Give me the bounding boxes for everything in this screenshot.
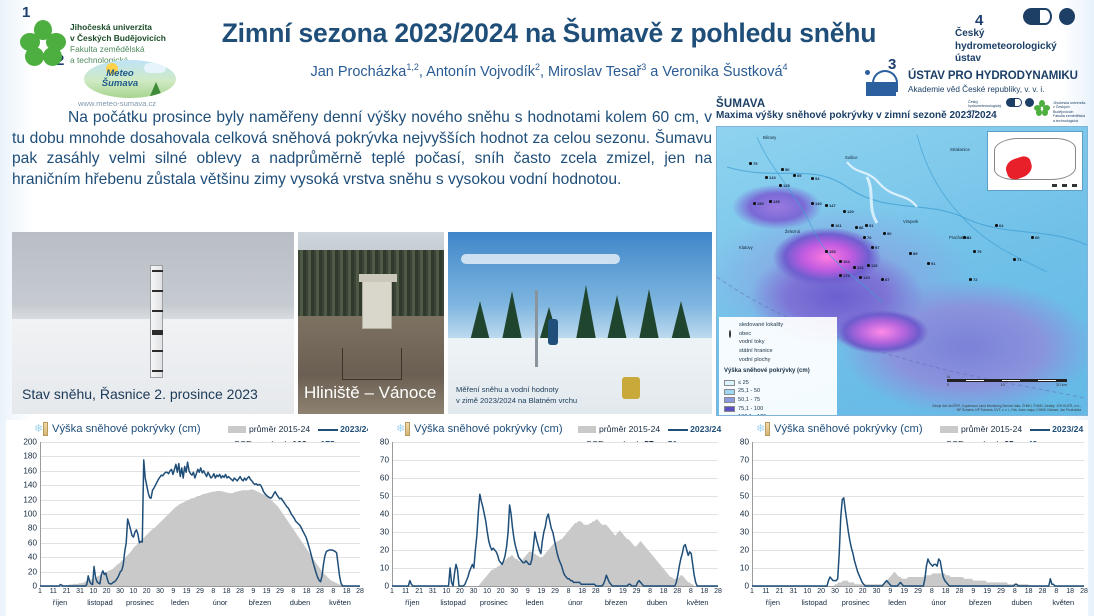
chart-x-tick: 30 [116,588,124,595]
author-3: , Miroslav Tesař [540,64,641,80]
poster-header: 1 2 3 4 Jihočeská univerzita v Českých B… [0,0,1094,105]
legend-average-label: průměr 2015-24 [599,424,660,434]
chart-month-label: duben [290,598,311,607]
chart-plot-area: 0204060801001201401601802001112131102030… [40,442,360,586]
legend-current-label: 2023/24 [690,424,721,434]
person-icon [548,319,558,345]
map-inset-scale-bar [1052,184,1078,187]
legend-symbol-row: státní hranice [724,347,833,356]
chart-month-label: leden [888,598,906,607]
chart-x-tick: 28 [316,588,324,595]
map-point-value: 153 [829,249,836,254]
chart-x-tick: 29 [551,588,559,595]
author-1-sup: 1,2 [406,62,419,72]
map-point-value: 120 [847,209,854,214]
map-point-value: 121 [857,265,864,270]
chart-x-tick: 21 [776,588,784,595]
legend-current-swatch [668,429,688,431]
chart-month-label: říjen [405,598,419,607]
chart-x-tick: 20 [817,588,825,595]
legend-symbol-label: sledované lokality [739,321,783,330]
map-point-value: 79 [977,249,981,254]
photo-caption-3: Měření sněhu a vodní hodnotyv zimě 2023/… [456,385,577,406]
map-point-value: 175 [843,273,850,278]
map-logo-ju-flower-icon [1034,100,1050,116]
chart-x-tick: 9 [251,588,255,595]
map-town-label: Klatovy [739,245,753,250]
legend-class-label: 75,1 - 100 [738,405,763,414]
map-point-value: 55 [797,173,801,178]
legend-symbol-label: vodní toky [739,338,765,347]
chart-y-tick: 0 [384,582,389,591]
map-logo-ju-text: Jihočeská univerzita v Českých Budějovic… [1053,101,1086,123]
legend-class-label: 50,1 - 75 [738,396,760,405]
chart-y-tick: 100 [23,510,37,519]
chart-x-tick: 18 [701,588,709,595]
meteo-line-2: Šumava [102,78,138,89]
photo-caption-1: Stav sněhu, Řasnice 2. prosince 2023 [22,386,258,402]
map-point-value: 135 [773,199,780,204]
map-point-value: 72 [973,277,977,282]
legend-current-swatch [318,429,338,431]
chart-x-tick: 8 [567,588,571,595]
map-town-label: Běrany [763,135,776,140]
chart-x-tick: 21 [415,588,423,595]
chart-y-tick: 20 [28,567,37,576]
map-point-value: 75 [753,161,757,166]
chart-y-tick: 10 [380,564,389,573]
chart-x-tick: 28 [1039,588,1047,595]
map-credit-text: Zdroje dat: ArcČR®, Copernicus Land Moni… [931,404,1081,413]
map-point-value: 125 [783,183,790,188]
chart-y-tick: 200 [23,438,37,447]
chart-x-tick: 19 [538,588,546,595]
chart-x-tick: 28 [1080,588,1088,595]
chmi-line-3: ústav [955,53,981,64]
chart-x-tick: 31 [76,588,84,595]
legend-average-swatch [940,426,958,433]
affiliation-number-4: 4 [975,12,983,29]
legend-class-list: ≤ 2525,1 - 5050,1 - 7575,1 - 100100,1 - … [724,379,833,416]
chart-x-tick: 10 [803,588,811,595]
legend-average-swatch [578,426,596,433]
chart-month-label: květen [687,598,709,607]
meteo-sumava-logo-icon: Meteo Šumava [84,60,176,98]
chart-x-axis [40,586,360,587]
legend-current-label: 2023/24 [340,424,371,434]
chart-x-tick: 28 [592,588,600,595]
legend-color-swatch [724,380,735,386]
chart-x-tick: 11 [402,588,409,595]
chart-month-label: říjen [53,598,67,607]
chmi-logo-text: Český hydrometeorologický ústav [955,28,1077,66]
chart-month-label: únor [931,598,946,607]
chart-x-tick: 9 [171,588,175,595]
chart-month-label: prosinec [126,598,154,607]
legend-symbol-row: vodní plochy [724,356,833,365]
circle-icon [724,330,736,338]
chart-y-tick: 70 [740,456,749,465]
chart-x-tick: 9 [607,588,611,595]
chart-x-tick: 20 [103,588,111,595]
chart-x-tick: 19 [183,588,191,595]
chart-x-tick: 18 [223,588,231,595]
map-point-value: 97 [875,245,879,250]
legend-average-label: průměr 2015-24 [249,424,310,434]
chart-x-tick: 20 [456,588,464,595]
university-flower-logo-icon [20,20,66,66]
map-point-value: 90 [887,231,891,236]
photo-caption-2: Hliniště – Vánoce [304,383,436,403]
chart-y-tick: 60 [380,474,389,483]
chart-x-tick: 28 [714,588,722,595]
author-2: , Antonín Vojvodík [419,64,535,80]
chart-y-tick: 80 [740,438,749,447]
chart-month-label: listopad [802,598,827,607]
snow-ruler-icon: ❄ [756,422,771,436]
map-point-value: 150 [757,201,764,206]
chart-x-tick: 18 [578,588,586,595]
chart-month-label: květen [329,598,351,607]
snow-depth-map-image[interactable]: Běrany Sušice Strakonice Železná Vimperk… [716,126,1088,416]
chart-x-tick: 18 [660,588,668,595]
legend-class-row: ≤ 25 [724,379,833,388]
chart-x-tick: 30 [510,588,518,595]
chart-y-tick: 10 [740,564,749,573]
weather-screen-icon [362,279,392,329]
chart-x-tick: 10 [845,588,853,595]
chart-x-tick: 1 [38,588,42,595]
snow-depth-map-panel: ŠUMAVA Maxima výšky sněhové pokrývky v z… [716,98,1088,416]
chart-month-label: květen [1052,598,1074,607]
chart-x-tick: 1 [390,588,394,595]
chart-month-label: únor [213,598,228,607]
scale-right: 20 km [1056,382,1067,387]
map-point-value: 60 [1035,235,1039,240]
chart-x-tick: 29 [196,588,204,595]
chart-y-tick: 70 [380,456,389,465]
photo-caption-3-line: Měření sněhu a vodní hodnoty [456,385,559,394]
chart-x-tick: 28 [956,588,964,595]
chart-title: Výška sněhové pokrývky (cm) [414,423,563,435]
chart-x-tick: 8 [1054,588,1058,595]
chart-y-tick: 180 [23,452,37,461]
map-legend: sledované lokality obec vodní toky státn… [719,317,837,416]
legend-symbol-row: sledované lokality [724,321,833,330]
chart-month-label: prosinec [842,598,870,607]
map-point-value: 50 [785,167,789,172]
legend-class-row: 75,1 - 100 [724,405,833,414]
chart-x-tick: 19 [263,588,271,595]
chart-series-layer [752,442,1084,586]
chart-x-tick: 11 [762,588,769,595]
map-point-value: 147 [829,203,836,208]
chart-y-tick: 50 [740,492,749,501]
chart-series-average [40,490,360,586]
map-point-value: 87 [885,277,889,282]
legend-current-label: 2023/24 [1052,424,1083,434]
snow-sampler-icon [622,377,640,399]
chart-series-average [392,519,718,586]
chart-month-label: říjen [766,598,780,607]
chart-x-tick: 18 [1066,588,1074,595]
chart-month-label: březen [605,598,628,607]
chart-x-tick: 10 [442,588,450,595]
legend-symbol-row: vodní toky [724,338,833,347]
chart-y-tick: 80 [380,438,389,447]
chart-legend: průměr 2015-242023/24 [578,424,721,434]
chart-y-tick: 0 [744,582,749,591]
chart-y-tick: 120 [23,495,37,504]
page-title: Zimní sezona 2023/2024 na Šumavě z pohle… [186,18,912,49]
chart-x-tick: 8 [291,588,295,595]
map-point-value: 70 [867,235,871,240]
map-town-label: Sušice [845,155,858,160]
map-point-value: 51 [869,223,873,228]
chart-y-tick: 60 [740,474,749,483]
chart-y-tick: 140 [23,481,37,490]
chmi-line-1: Český [955,28,984,39]
chart-x-tick: 18 [303,588,311,595]
chart-legend: průměr 2015-242023/24 [228,424,371,434]
snow-ruler-icon: ❄ [34,422,49,436]
chart-plot-area: 0102030405060708011121311020301020309192… [392,442,718,586]
chart-x-tick: 21 [63,588,71,595]
chart-x-tick: 20 [859,588,867,595]
chart-x-tick: 30 [156,588,164,595]
map-logo-chmi-line2: hydrometeorologický [968,104,1001,108]
legend-color-swatch [724,389,735,395]
chart-month-label: únor [568,598,583,607]
chart-series-current [752,498,1084,586]
author-4: a Veronika Šustková [646,64,782,80]
snow-ruler-icon: ❄ [396,422,411,436]
chart-y-tick: 160 [23,466,37,475]
photo-caption-3-line: v zimě 2023/2024 na Blatném vrchu [456,396,577,405]
map-point-value: 91 [931,261,935,266]
hydrodynamics-institute-logo-icon [862,68,904,98]
legend-class-label: 25,1 - 50 [738,387,760,396]
legend-symbol-label: vodní plochy [739,356,770,365]
chart-x-tick: 8 [689,588,693,595]
chart-x-tick: 8 [930,588,934,595]
chart-series-layer [40,442,360,586]
chart-title: Výška sněhové pokrývky (cm) [52,423,201,435]
chart-x-tick: 10 [129,588,137,595]
chmi-logo-icon [1023,8,1075,25]
author-4-sup: 4 [783,62,788,72]
chart-x-tick: 19 [619,588,627,595]
map-town-label: Železná [785,229,800,234]
chart-blatny-vrch[interactable]: ❄Výška sněhové pokrývky (cm)Blatný vrch … [6,420,364,616]
map-scale-bar: N 0 10 20 km [947,374,1067,387]
chart-x-tick: 20 [143,588,151,595]
legend-symbol-label: obec [739,330,751,339]
chart-x-tick: 30 [873,588,881,595]
map-point-value: 115 [871,263,877,268]
chart-x-tick: 18 [942,588,950,595]
meteo-website-url[interactable]: www.meteo-sumava.cz [78,99,156,108]
map-town-label: Prachatice [949,235,969,240]
chart-month-label: prosinec [480,598,508,607]
tree-icon [150,82,162,96]
chart-plot-area: 0102030405060708011121311020301020309192… [752,442,1084,586]
map-point-value: 64 [999,223,1003,228]
scale-mid: 10 [1000,382,1004,387]
map-inset-czech-republic [987,131,1083,191]
map-point-value: 86 [859,225,863,230]
chmi-line-2: hydrometeorologický [955,41,1057,52]
map-point-value: 71 [1017,257,1021,262]
chart-vimperk[interactable]: ❄Výška sněhové pokrývky (cm)Vimperk, měs… [728,420,1088,616]
chart-y-tick: 0 [32,582,37,591]
map-ju-line3: Fakulta zemědělská [1053,114,1085,118]
chart-y-tick: 20 [740,546,749,555]
chart-x-tick: 20 [497,588,505,595]
chart-y-tick: 20 [380,546,389,555]
chart-x-tick: 28 [236,588,244,595]
legend-class-label: 100,1 - 125 [738,413,766,416]
legend-class-row: 100,1 - 125 [724,413,833,416]
author-1: Jan Procházka [310,64,406,80]
chart-y-tick: 60 [28,538,37,547]
chart-month-label: leden [171,598,189,607]
chart-y-tick: 50 [380,492,389,501]
chart-x-tick: 8 [211,588,215,595]
chart-x-tick: 9 [526,588,530,595]
legend-symbol-label: státní hranice [739,347,773,356]
chart-x-tick: 9 [971,588,975,595]
chart-x-tick: 11 [50,588,57,595]
chart-month-label: březen [249,598,272,607]
chart-x-tick: 28 [356,588,364,595]
map-logo-chmi-line1: Český [968,100,978,104]
hydrodynamics-institute-subtitle: Akademie věd České republiky, v. v. i. [908,85,1045,94]
chart-month-label: listopad [440,598,465,607]
map-point-value: 120 [863,275,870,280]
map-point-value: 89 [913,251,917,256]
map-point-value: 143 [769,175,776,180]
ju-line-1: Jihočeská univerzita [70,22,190,33]
intro-paragraph: Na počátku prosince byly naměřeny denní … [12,108,712,191]
authors-line: Jan Procházka1,2, Antonín Vojvodík2, Mir… [186,62,912,80]
map-point-value: 161 [835,223,842,228]
chart-x-tick: 30 [831,588,839,595]
chart-churanov[interactable]: ❄Výška sněhové pokrývky (cm)Churáňov 111… [368,420,722,616]
chart-x-tick: 8 [331,588,335,595]
chart-x-tick: 29 [633,588,641,595]
chart-month-label: duben [1011,598,1032,607]
map-ju-line4: a technologická [1053,119,1078,123]
chart-x-tick: 8 [1013,588,1017,595]
chart-x-tick: 28 [673,588,681,595]
chart-x-tick: 29 [997,588,1005,595]
chart-y-tick: 80 [28,524,37,533]
chart-y-tick: 40 [740,510,749,519]
legend-color-swatch [724,397,735,403]
map-logo-chmi-mark-icon [1006,98,1032,108]
map-point-value: 104 [843,259,850,264]
chart-x-tick: 1 [750,588,754,595]
chart-x-tick: 18 [1025,588,1033,595]
chart-x-tick: 9 [888,588,892,595]
chart-x-tick: 19 [900,588,908,595]
chart-x-tick: 19 [983,588,991,595]
chart-series-average [752,572,1084,586]
legend-current-swatch [1030,429,1050,431]
legend-class-row: 25,1 - 50 [724,387,833,396]
map-point-value: 82 [967,235,971,240]
affiliation-number-1: 1 [22,4,30,21]
chart-x-tick: 18 [343,588,351,595]
chart-x-tick: 30 [470,588,478,595]
legend-title: Výška sněhové pokrývky (cm) [724,367,833,376]
map-town-label: Vimperk [903,219,918,224]
chart-x-tick: 29 [914,588,922,595]
chart-x-tick: 31 [790,588,798,595]
chart-y-tick: 40 [380,510,389,519]
hydrodynamics-institute-title: ÚSTAV PRO HYDRODYNAMIKU [908,70,1078,82]
map-partner-logos: Český hydrometeorologický ústav Jihočesk… [968,98,1086,124]
legend-color-swatch [724,406,735,412]
chart-x-tick: 29 [276,588,284,595]
chart-series-layer [392,442,718,586]
snow-measuring-pole-icon [150,265,163,378]
legend-color-swatch [724,415,735,416]
chart-month-label: duben [647,598,668,607]
chart-legend: průměr 2015-242023/24 [940,424,1083,434]
map-town-label: Strakonice [950,147,970,152]
chart-x-tick: 10 [483,588,491,595]
legend-class-row: 50,1 - 75 [724,396,833,405]
poster-root: 1 2 3 4 Jihočeská univerzita v Českých B… [0,0,1094,616]
map-logo-chmi-line3: ústav [968,109,977,113]
chart-y-tick: 40 [28,553,37,562]
legend-symbol-row: obec [724,330,833,339]
chart-month-label: listopad [87,598,112,607]
chart-y-tick: 30 [740,528,749,537]
map-ju-line2: v Českých Budějovicích [1053,105,1073,113]
chart-x-tick: 8 [648,588,652,595]
map-point-value: 140 [815,201,822,206]
chart-title: Výška sněhové pokrývky (cm) [774,423,923,435]
chart-x-tick: 31 [429,588,437,595]
legend-average-label: průměr 2015-24 [961,424,1022,434]
chart-month-label: březen [969,598,992,607]
ju-line-3: Fakulta zemědělská [70,44,144,54]
chart-month-label: leden [526,598,544,607]
map-point-value: 54 [815,176,819,181]
legend-class-label: ≤ 25 [738,379,749,388]
ju-line-2: v Českých Budějovicích [70,33,190,44]
chart-y-tick: 30 [380,528,389,537]
legend-average-swatch [228,426,246,433]
scale-left: 0 [947,382,949,387]
chart-x-tick: 10 [89,588,97,595]
